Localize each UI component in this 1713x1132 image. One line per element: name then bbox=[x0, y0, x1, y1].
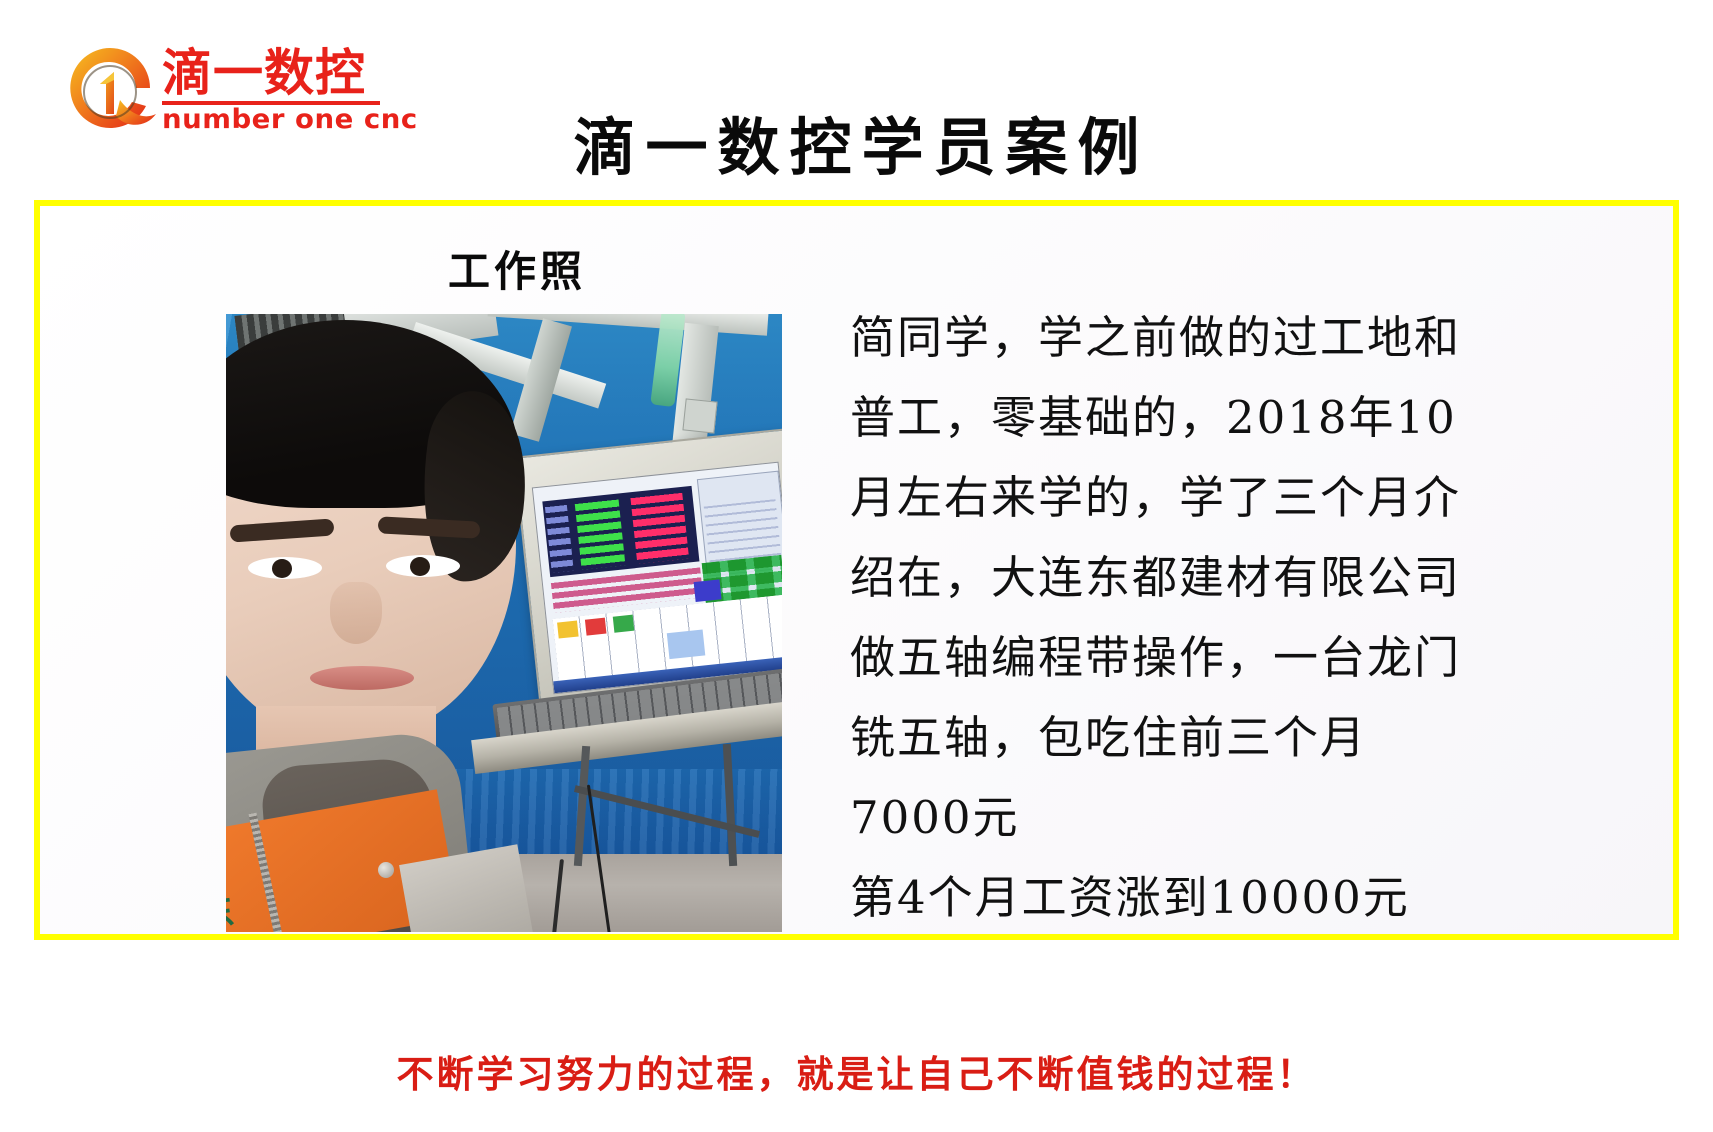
photo-person-nose bbox=[330, 582, 382, 644]
photo-person-eye-right bbox=[386, 555, 460, 577]
cnc-warning-icon bbox=[557, 621, 579, 639]
brand-name-cn: 滴一数控 bbox=[162, 46, 382, 100]
cnc-stop-icon bbox=[585, 618, 607, 636]
photo-person-pupil-right bbox=[410, 557, 430, 576]
case-card: 工作照 bbox=[34, 200, 1679, 940]
cnc-monitor-screen bbox=[532, 462, 782, 695]
page-header: 滴一数控 number one cnc 滴一数控学员案例 bbox=[0, 0, 1713, 200]
cnc-blue-tile-icon bbox=[694, 579, 722, 602]
case-line: 7000元 bbox=[850, 778, 1640, 858]
case-line: 月左右来学的，学了三个月介 bbox=[850, 458, 1640, 538]
case-line: 简同学，学之前做的过工地和 bbox=[850, 298, 1640, 378]
case-line: 普工，零基础的，2018年10 bbox=[850, 378, 1640, 458]
case-description: 简同学，学之前做的过工地和 普工，零基础的，2018年10 月左右来学的，学了三… bbox=[850, 298, 1640, 938]
cnc-selected-tile bbox=[667, 629, 706, 659]
case-line: 铣五轴，包吃住前三个月 bbox=[850, 698, 1640, 778]
photo-support-plate bbox=[682, 398, 717, 433]
case-line: 做五轴编程带操作，一台龙门 bbox=[850, 618, 1640, 698]
photo-caption: 工作照 bbox=[448, 248, 586, 296]
photo-person-eye-left bbox=[248, 557, 322, 579]
student-workplace-photo: 东 bbox=[226, 314, 782, 932]
case-line: 第4个月工资涨到10000元 bbox=[850, 858, 1640, 938]
page-title: 滴一数控学员案例 bbox=[0, 112, 1713, 184]
cnc-red-readouts bbox=[630, 491, 689, 564]
photo-person-mouth bbox=[310, 666, 414, 690]
footer-slogan: 不断学习努力的过程，就是让自己不断值钱的过程！ bbox=[0, 1052, 1713, 1098]
cnc-run-icon bbox=[613, 615, 635, 633]
photo-person-pupil-left bbox=[272, 559, 292, 578]
case-line: 绍在，大连东都建材有限公司 bbox=[850, 538, 1640, 618]
cnc-green-readouts bbox=[575, 498, 626, 570]
photo-person-snap-button bbox=[378, 862, 394, 878]
